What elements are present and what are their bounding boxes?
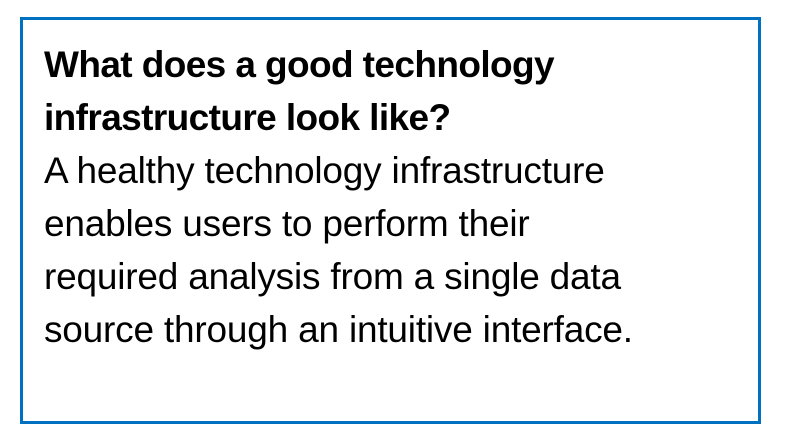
body-line-3: required analysis from a single data bbox=[44, 250, 734, 303]
body-line-2: enables users to perform their bbox=[44, 197, 734, 250]
body-line-4: source through an intuitive interface. bbox=[44, 303, 734, 356]
content-box: What does a good technology infrastructu… bbox=[20, 17, 761, 424]
body-line-1: A healthy technology infrastructure bbox=[44, 144, 734, 197]
heading-line-1: What does a good technology bbox=[44, 38, 734, 91]
text-block: What does a good technology infrastructu… bbox=[44, 38, 734, 356]
slide-canvas: What does a good technology infrastructu… bbox=[0, 0, 788, 448]
heading-line-2: infrastructure look like? bbox=[44, 91, 734, 144]
